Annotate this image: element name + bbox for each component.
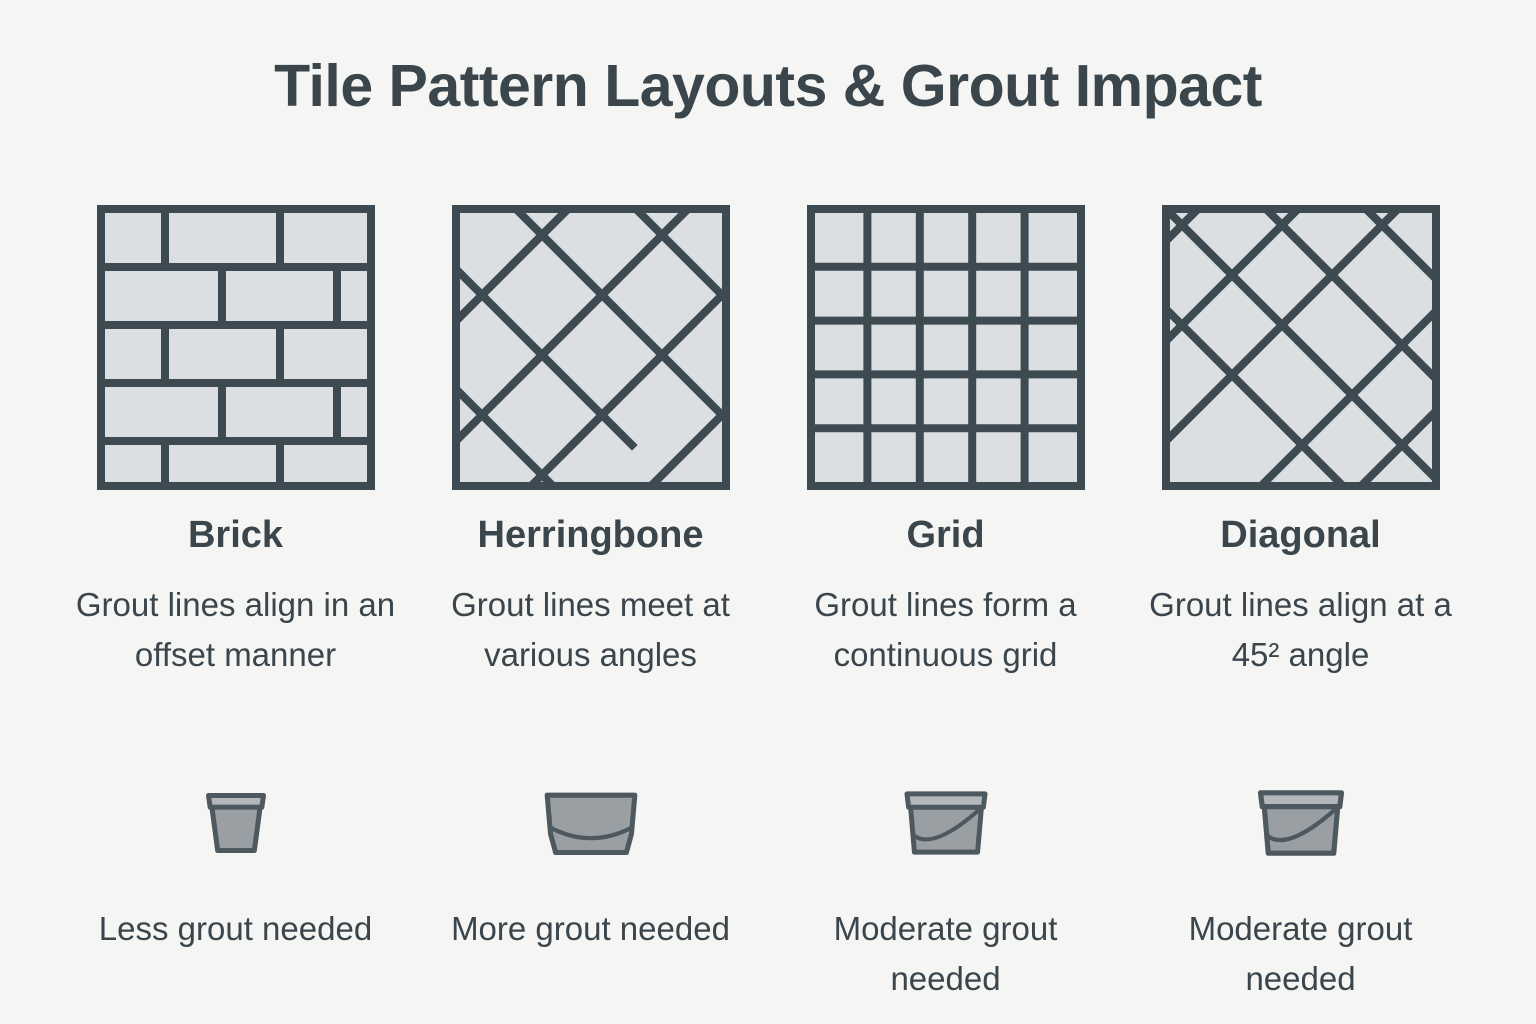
bucket-caption-brick: Less grout needed — [66, 904, 406, 954]
brick-tile-pattern-icon — [97, 205, 375, 490]
pattern-column-grid: Grid Grout lines form a continuous grid — [768, 205, 1123, 680]
pattern-column-herringbone: Herringbone Grout lines meet at various … — [413, 205, 768, 680]
bucket-column-grid: Moderate grout needed — [768, 778, 1123, 1004]
page-title: Tile Pattern Layouts & Grout Impact — [0, 52, 1536, 120]
pattern-description-grid: Grout lines form a continuous grid — [781, 580, 1111, 680]
bucket-column-diagonal: Moderate grout needed — [1123, 778, 1478, 1004]
bucket-caption-grid: Moderate grout needed — [776, 904, 1116, 1004]
grout-bucket-moderate-icon — [1245, 778, 1357, 868]
pattern-column-diagonal: Diagonal Grout lines align at a 45² angl… — [1123, 205, 1478, 680]
diagonal-tile-pattern-icon — [1162, 205, 1440, 490]
grid-tile-pattern-icon — [807, 205, 1085, 490]
bucket-column-herringbone: More grout needed — [413, 778, 768, 1004]
pattern-columns: Brick Grout lines align in an offset man… — [58, 205, 1478, 680]
pattern-column-brick: Brick Grout lines align in an offset man… — [58, 205, 413, 680]
pattern-name-brick: Brick — [188, 516, 283, 556]
bucket-caption-diagonal: Moderate grout needed — [1131, 904, 1471, 1004]
pattern-description-herringbone: Grout lines meet at various angles — [426, 580, 756, 680]
herringbone-tile-pattern-icon — [452, 205, 730, 490]
grout-bucket-high-icon — [532, 778, 650, 868]
pattern-name-herringbone: Herringbone — [478, 516, 704, 556]
grout-bucket-low-icon — [186, 778, 286, 868]
bucket-caption-herringbone: More grout needed — [421, 904, 761, 954]
pattern-description-brick: Grout lines align in an offset manner — [71, 580, 401, 680]
grout-buckets-row: Less grout needed More grout needed Mode… — [58, 778, 1478, 1004]
bucket-column-brick: Less grout needed — [58, 778, 413, 1004]
pattern-name-grid: Grid — [906, 516, 984, 556]
grout-bucket-moderate-icon — [892, 778, 1000, 868]
pattern-name-diagonal: Diagonal — [1220, 516, 1380, 556]
pattern-description-diagonal: Grout lines align at a 45² angle — [1136, 580, 1466, 680]
